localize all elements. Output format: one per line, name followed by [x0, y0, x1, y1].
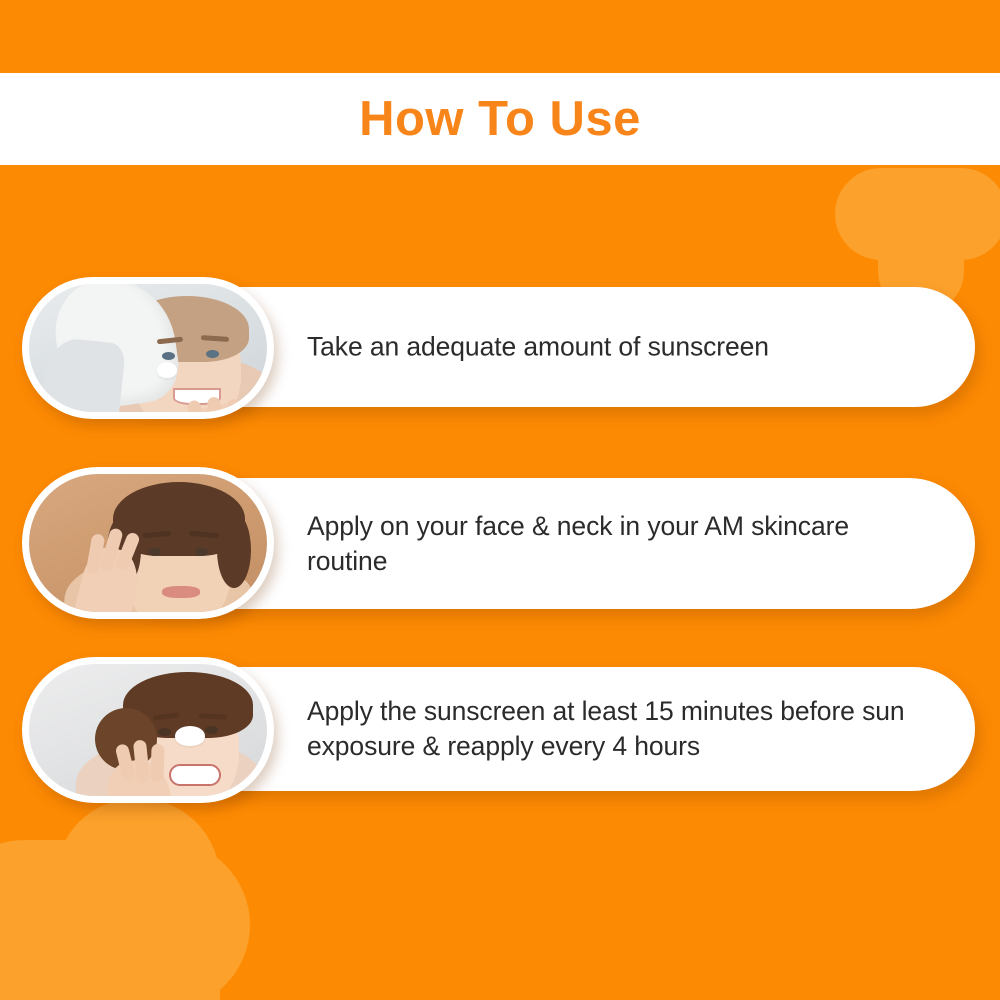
- step-thumbnail: [22, 657, 274, 803]
- woman-with-towel-applying-cream-photo: [29, 284, 267, 412]
- left-eye: [148, 548, 161, 556]
- left-eye: [162, 352, 175, 360]
- hair-side-right: [217, 512, 251, 588]
- title-banner: How To Use: [0, 73, 1000, 165]
- woman-touching-face-photo: [29, 474, 267, 612]
- smiling-mouth: [162, 586, 200, 598]
- how-to-use-infographic: How To Use Take an adequate amount of su…: [0, 0, 1000, 1000]
- step-text: Apply on your face & neck in your AM ski…: [307, 508, 927, 578]
- step-text: Take an adequate amount of sunscreen: [307, 329, 927, 364]
- smiling-woman-with-cream-on-cheek-photo: [29, 664, 267, 796]
- step-row: Take an adequate amount of sunscreen: [0, 277, 1000, 419]
- step-row: Apply the sunscreen at least 15 minutes …: [0, 657, 1000, 803]
- left-eye: [158, 728, 171, 736]
- right-eye: [206, 350, 219, 358]
- cream-dab: [175, 726, 205, 746]
- page-title: How To Use: [359, 95, 641, 144]
- finger: [150, 744, 164, 782]
- finger: [226, 399, 240, 412]
- cream-dab: [157, 362, 177, 378]
- step-text: Apply the sunscreen at least 15 minutes …: [307, 694, 927, 764]
- towel-tail-shape: [38, 336, 126, 412]
- step-thumbnail: [22, 277, 274, 419]
- step-row: Apply on your face & neck in your AM ski…: [0, 467, 1000, 619]
- smiling-mouth: [169, 764, 221, 786]
- step-thumbnail: [22, 467, 274, 619]
- right-eye: [195, 548, 208, 556]
- right-eye: [205, 726, 218, 734]
